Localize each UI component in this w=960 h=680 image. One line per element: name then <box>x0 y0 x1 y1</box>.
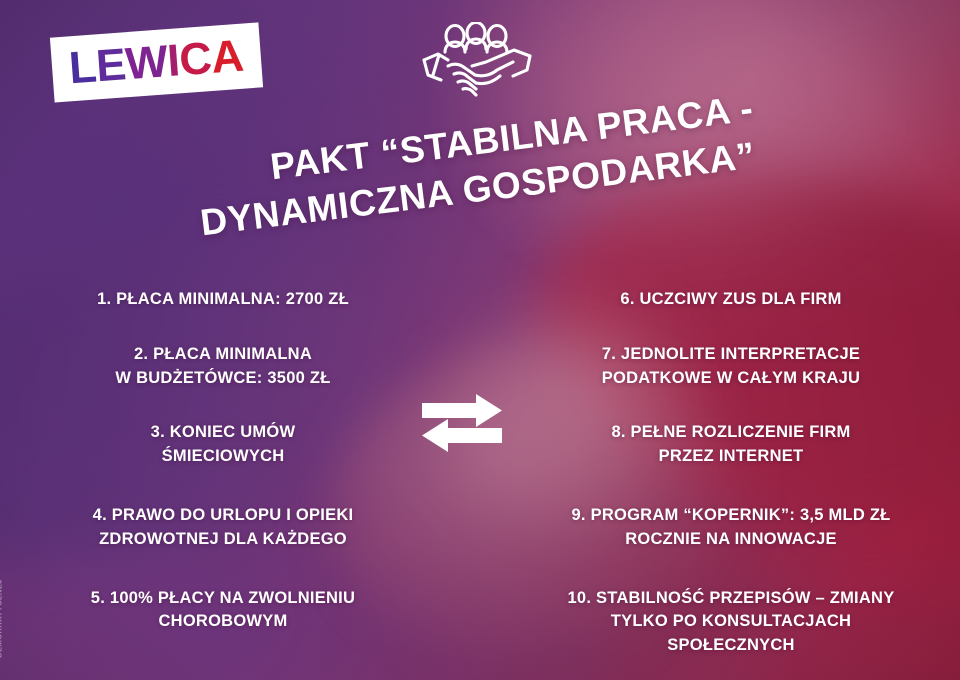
point-item-2: 2. PŁACA MINIMALNA W BUDŻETÓWCE: 3500 ZŁ <box>28 343 418 390</box>
lewica-logo[interactable]: LEWICA <box>50 22 263 102</box>
point-item-8: 8. PEŁNE ROZLICZENIE FIRM PRZEZ INTERNET <box>532 421 930 468</box>
point-item-10: 10. STABILNOŚĆ PRZEPISÓW – ZMIANY TYLKO … <box>532 587 930 657</box>
point-item-7: 7. JEDNOLITE INTERPRETACJE PODATKOWE W C… <box>532 343 930 390</box>
logo-letter-1: L <box>68 43 98 90</box>
points-container: 1. PŁACA MINIMALNA: 2700 ZŁ 2. PŁACA MIN… <box>0 272 960 652</box>
point-item-3: 3. KONIEC UMÓW ŚMIECIOWYCH <box>28 421 418 468</box>
people-handshake-icon <box>418 22 534 104</box>
committee-credit: KW SOJUSZ LEWICY DEMOKRATYCZNEJ <box>0 575 4 658</box>
logo-letter-5: C <box>178 35 213 82</box>
point-item-4: 4. PRAWO DO URLOPU I OPIEKI ZDROWOTNEJ D… <box>28 504 418 551</box>
point-item-5: 5. 100% PŁACY NA ZWOLNIENIU CHOROBOWYM <box>28 587 418 634</box>
credit-line-2: DEMOKRATYCZNEJ <box>0 575 4 658</box>
points-column-left: 1. PŁACA MINIMALNA: 2700 ZŁ 2. PŁACA MIN… <box>0 272 480 652</box>
points-column-right: 6. UCZCIWY ZUS DLA FIRM 7. JEDNOLITE INT… <box>480 272 960 652</box>
logo-letter-3: W <box>124 38 169 86</box>
logo-letter-6: A <box>210 33 245 80</box>
point-item-1: 1. PŁACA MINIMALNA: 2700 ZŁ <box>28 288 418 311</box>
logo-text: LEWICA <box>68 33 245 91</box>
logo-letter-2: E <box>94 41 127 88</box>
point-item-9: 9. PROGRAM “KOPERNIK”: 3,5 MLD ZŁ ROCZNI… <box>532 504 930 551</box>
campaign-poster: LEWICA <box>0 0 960 680</box>
exchange-arrows-icon <box>418 393 506 455</box>
point-item-6: 6. UCZCIWY ZUS DLA FIRM <box>532 288 930 311</box>
logo-plate: LEWICA <box>50 22 263 102</box>
